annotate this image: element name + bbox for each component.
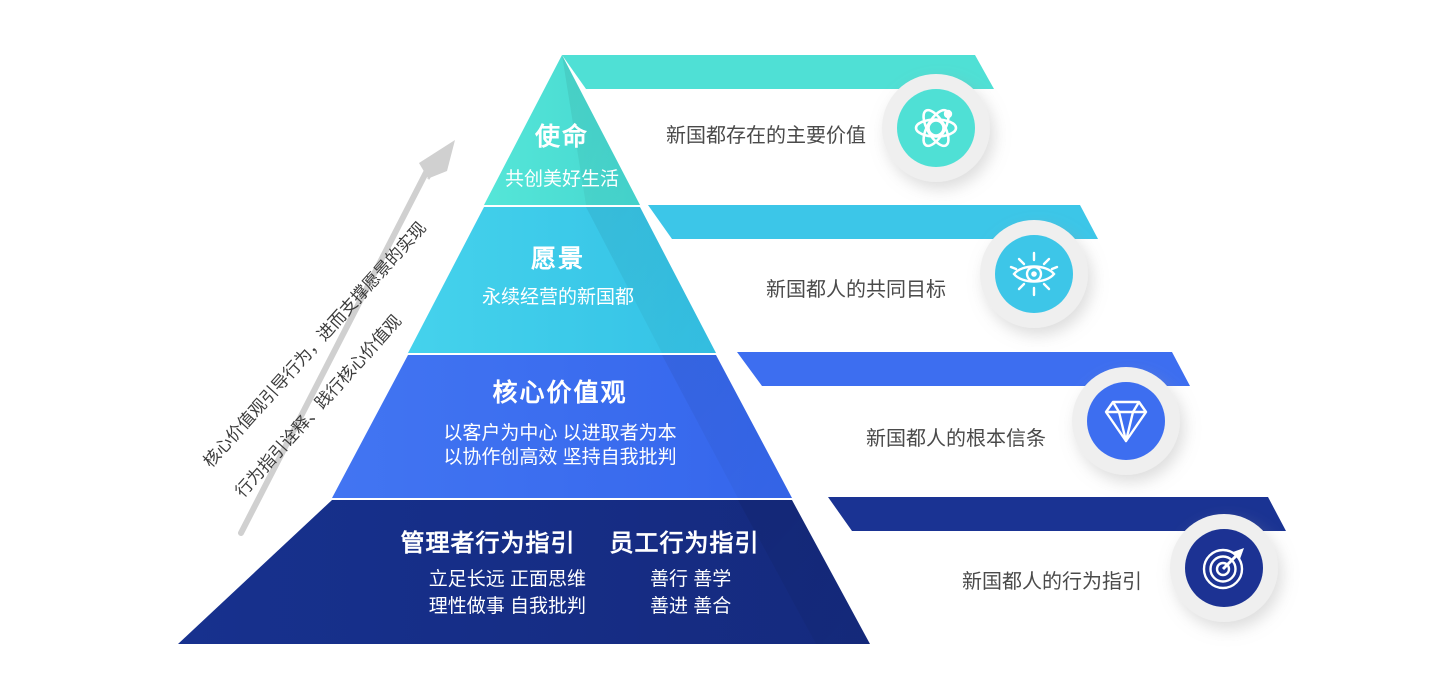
behavior-items-employee: 善行 善学 善进 善合 bbox=[650, 567, 731, 621]
icon-badge-mission[interactable] bbox=[882, 74, 990, 182]
caption-vision: 新国都人的共同目标 bbox=[766, 273, 946, 302]
level-behavior-headings: 管理者行为指引 员工行为指引 bbox=[330, 523, 830, 558]
caption-mission: 新国都存在的主要价值 bbox=[666, 119, 866, 148]
behavior-heading-employee: 员工行为指引 bbox=[610, 523, 760, 558]
core-values-line-1: 以客户为中心 以进取者为本 bbox=[390, 422, 730, 446]
icon-badge-core-values[interactable] bbox=[1072, 367, 1180, 475]
level-behavior-items: 立足长远 正面思维 理性做事 自我批判 善行 善学 善进 善合 bbox=[330, 567, 830, 621]
behavior-heading-manager: 管理者行为指引 bbox=[401, 523, 576, 558]
level-core-values-subtitle: 以客户为中心 以进取者为本 以协作创高效 坚持自我批判 bbox=[390, 422, 730, 470]
caption-core-values: 新国都人的根本信条 bbox=[866, 422, 1046, 451]
level-core-values-title: 核心价值观 bbox=[430, 378, 690, 409]
level-vision-subtitle: 永续经营的新国都 bbox=[418, 286, 698, 310]
behavior-items-manager: 立足长远 正面思维 理性做事 自我批判 bbox=[429, 567, 586, 621]
core-values-line-2: 以协作创高效 坚持自我批判 bbox=[390, 446, 730, 470]
icon-badge-vision[interactable] bbox=[980, 220, 1088, 328]
level-mission-title: 使命 bbox=[462, 122, 662, 153]
pyramid-diagram: 使命 共创美好生活 愿景 永续经营的新国都 核心价值观 以客户为中心 以进取者为… bbox=[0, 0, 1438, 684]
level-mission-subtitle: 共创美好生活 bbox=[432, 168, 692, 192]
caption-behavior: 新国都人的行为指引 bbox=[962, 565, 1142, 594]
icon-badge-behavior[interactable] bbox=[1170, 514, 1278, 622]
level-vision-title: 愿景 bbox=[458, 244, 658, 275]
